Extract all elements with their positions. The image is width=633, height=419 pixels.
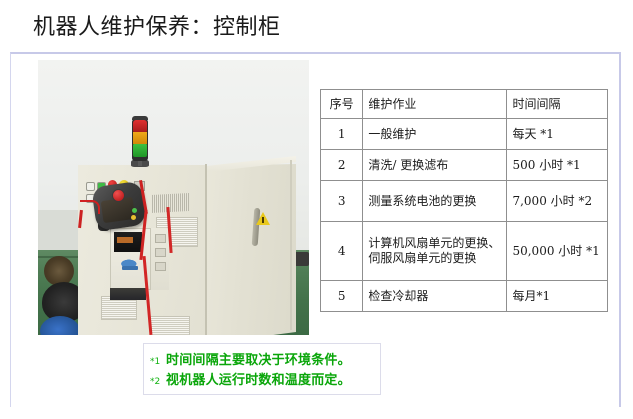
footnote-text: 视机器人运行时数和温度而定。: [166, 369, 351, 388]
page-title: 机器人维护保养：控制柜: [33, 9, 281, 41]
cell-no: 2: [321, 150, 363, 181]
cell-no: 5: [321, 281, 363, 312]
cell-task: 测量系统电池的更换: [363, 181, 507, 222]
cell-interval: 每天 *1: [507, 119, 608, 150]
power-cable-icon: [80, 200, 100, 214]
cell-interval: 7,000 小时 *2: [507, 181, 608, 222]
column-header-no: 序号: [321, 90, 363, 119]
indicator-lamp: [86, 182, 95, 191]
cell-interval: 500 小时 *1: [507, 150, 608, 181]
panel-button: [155, 262, 166, 271]
footnote-item: *2 视机器人运行时数和温度而定。: [150, 369, 372, 388]
cell-task: 检查冷却器: [363, 281, 507, 312]
panel-button: [155, 234, 166, 243]
table-row: 3 测量系统电池的更换 7,000 小时 *2: [321, 181, 608, 222]
footnote-text: 时间间隔主要取决于环境条件。: [166, 349, 351, 368]
cell-no: 3: [321, 181, 363, 222]
slide-root: 机器人维护保养：控制柜: [0, 0, 633, 419]
signal-tower-red: [133, 120, 147, 132]
drive-display-text: [117, 237, 133, 243]
footnote-marker: *1: [150, 357, 166, 367]
cell-task: 计算机风扇单元的更换、伺服风扇单元的更换: [363, 222, 507, 281]
pendant-status-lamp: [132, 208, 137, 213]
cabinet-corner-edge: [205, 164, 207, 335]
column-header-task: 维护作业: [363, 90, 507, 119]
vent-grille-icon: [151, 193, 189, 213]
cell-interval: 每月*1: [507, 281, 608, 312]
table-header-row: 序号 维护作业 时间间隔: [321, 90, 608, 119]
table-row: 5 检查冷却器 每月*1: [321, 281, 608, 312]
signal-tower-amber: [133, 132, 147, 144]
cell-no: 1: [321, 119, 363, 150]
table-row: 4 计算机风扇单元的更换、伺服风扇单元的更换 50,000 小时 *1: [321, 222, 608, 281]
warning-exclamation: [262, 217, 264, 223]
footnote-item: *1 时间间隔主要取决于环境条件。: [150, 349, 372, 368]
panel-button: [155, 248, 166, 257]
control-cabinet-photo: [38, 60, 309, 335]
footnote-box: *1 时间间隔主要取决于环境条件。 *2 视机器人运行时数和温度而定。: [143, 343, 381, 395]
pendant-status-lamp: [131, 215, 136, 220]
signal-tower-green: [133, 144, 147, 157]
table-row: 2 清洗/ 更换滤布 500 小时 *1: [321, 150, 608, 181]
emergency-stop-icon: [112, 189, 125, 202]
title-bar: 机器人维护保养：控制柜: [0, 0, 633, 52]
maintenance-table: 序号 维护作业 时间间隔 1 一般维护 每天 *1 2 清洗/ 更换滤布 500…: [320, 89, 608, 312]
vent-grille-icon: [150, 316, 190, 335]
manufacturer-wordmark: [122, 266, 138, 270]
cabinet-door-seam: [290, 160, 292, 330]
footnote-marker: *2: [150, 377, 166, 387]
cell-interval: 50,000 小时 *1: [507, 222, 608, 281]
column-header-interval: 时间间隔: [507, 90, 608, 119]
cell-no: 4: [321, 222, 363, 281]
cell-task: 清洗/ 更换滤布: [363, 150, 507, 181]
cell-task: 一般维护: [363, 119, 507, 150]
drive-lower-panel: [110, 288, 146, 300]
table-row: 1 一般维护 每天 *1: [321, 119, 608, 150]
cabinet-side-face: [205, 164, 296, 335]
